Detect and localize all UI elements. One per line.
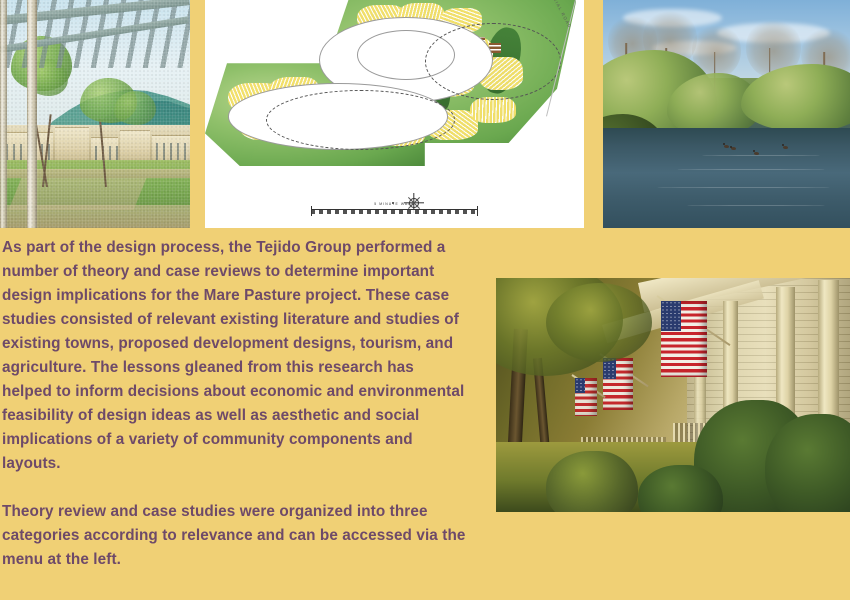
riparian-river-photograph-image (603, 0, 850, 228)
neighborhood-porches-flags-photograph-image (496, 278, 850, 512)
colored-master-site-plan-image: MAJOR ARTERIAL ROAD 5 MINUTE WALK (205, 0, 584, 228)
river-duck (724, 145, 729, 148)
siteplan-scale-bar: 5 MINUTE WALK (311, 209, 478, 218)
body-text-column: As part of the design process, the Tejid… (0, 236, 478, 572)
page-root: MAJOR ARTERIAL ROAD 5 MINUTE WALK (0, 0, 850, 600)
flag-canton-stars (661, 301, 681, 331)
flags-shrub (546, 451, 638, 512)
river-water (603, 128, 850, 228)
river-duck (783, 146, 788, 149)
siteplan-road-dashed (266, 90, 456, 150)
siteplan-drawing-area: MAJOR ARTERIAL ROAD (205, 0, 584, 166)
siteplan-footer: 5 MINUTE WALK (205, 166, 584, 228)
siteplan-road-dashed (425, 23, 561, 100)
body-paragraph-2: Theory review and case studies were orga… (0, 500, 478, 572)
scale-bar-caption: 5 MINUTE WALK (311, 202, 478, 206)
rendering-pergola-column (27, 0, 37, 228)
rendering-pergola-column (0, 0, 7, 228)
rendering-tree-canopy (114, 91, 156, 125)
flags-shrub (638, 465, 723, 512)
river-ripple (657, 187, 830, 188)
rendering-building (55, 127, 89, 164)
body-paragraph-1: As part of the design process, the Tejid… (0, 236, 478, 476)
flags-tree-foliage (546, 283, 652, 363)
watercolor-courtyard-rendering-image (0, 0, 190, 228)
river-duck (754, 152, 759, 155)
siteplan-lot-cluster (470, 97, 515, 124)
flag-canton-stars (575, 378, 585, 393)
